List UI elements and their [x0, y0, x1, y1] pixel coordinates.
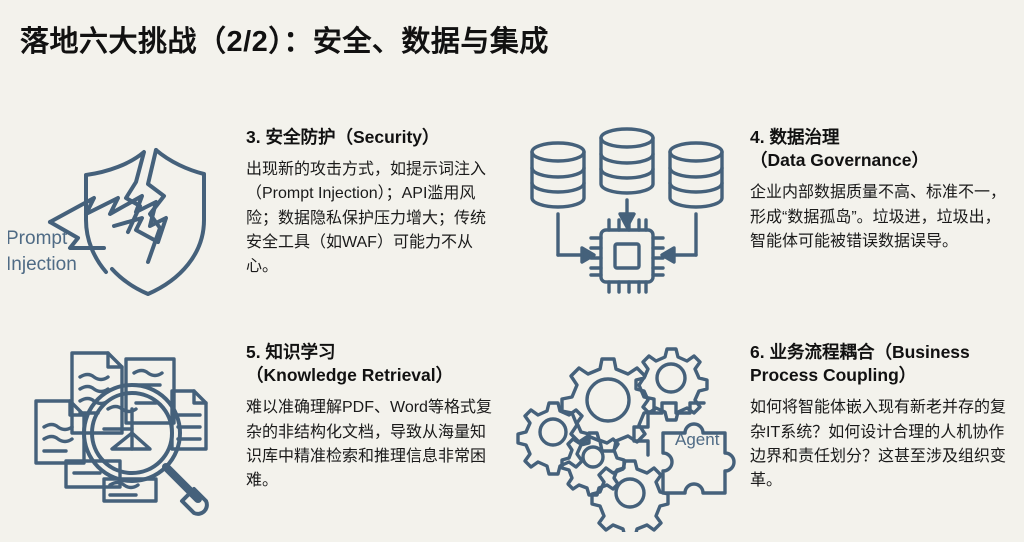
card-5-heading: 5. 知识学习 （Knowledge Retrieval） [246, 341, 492, 387]
agent-label: Agent [675, 430, 720, 449]
page-title: 落地六大挑战（2/2）：安全、数据与集成 [20, 18, 549, 60]
card-4-text: 4. 数据治理 （Data Governance） 企业内部数据质量不高、标准不… [750, 108, 1024, 323]
card-4-body: 企业内部数据质量不高、标准不一，形成“数据孤岛”。垃圾进，垃圾出，智能体可能被错… [750, 181, 1012, 254]
card-4-icon-cell [504, 108, 750, 323]
databases-to-chip-icon [512, 122, 742, 317]
card-3-body: 出现新的攻击方式，如提示词注入（Prompt Injection）；API滥用风… [246, 158, 492, 280]
card-4-heading-line1: 4. 数据治理 [750, 126, 1012, 149]
card-6-icon-cell: Agent [504, 323, 750, 542]
card-5-body: 难以准确理解PDF、Word等格式复杂的非结构化文档，导致从海量知识库中精准检索… [246, 396, 492, 493]
card-4-heading-line2: （Data Governance） [750, 149, 1012, 172]
card-5-heading-line1: 5. 知识学习 [246, 341, 492, 364]
documents-magnifier-icon [8, 337, 238, 532]
slide-root: 落地六大挑战（2/2）：安全、数据与集成 Prompt Injection [0, 0, 1024, 542]
prompt-label: Prompt [8, 228, 68, 249]
gears-agent-puzzle-icon: Agent [507, 337, 747, 532]
card-4-heading: 4. 数据治理 （Data Governance） [750, 126, 1012, 172]
card-3-heading: 3. 安全防护（Security） [246, 126, 492, 149]
card-6-heading: 6. 业务流程耦合（Business Process Coupling） [750, 341, 1012, 387]
cards-grid: Prompt Injection 3. 安全防护（Security） 出现新的攻… [0, 108, 1024, 542]
injection-label: Injection [8, 254, 77, 275]
card-5-text: 5. 知识学习 （Knowledge Retrieval） 难以准确理解PDF、… [246, 323, 504, 542]
card-5-heading-line2: （Knowledge Retrieval） [246, 364, 492, 387]
card-6-text: 6. 业务流程耦合（Business Process Coupling） 如何将… [750, 323, 1024, 542]
card-3-icon-cell: Prompt Injection [0, 108, 246, 323]
card-3-text: 3. 安全防护（Security） 出现新的攻击方式，如提示词注入（Prompt… [246, 108, 504, 323]
cracked-shield-lightning-icon: Prompt Injection [8, 122, 238, 317]
card-5-icon-cell [0, 323, 246, 542]
card-6-body: 如何将智能体嵌入现有新老并存的复杂IT系统？如何设计合理的人机协作边界和责任划分… [750, 396, 1012, 493]
